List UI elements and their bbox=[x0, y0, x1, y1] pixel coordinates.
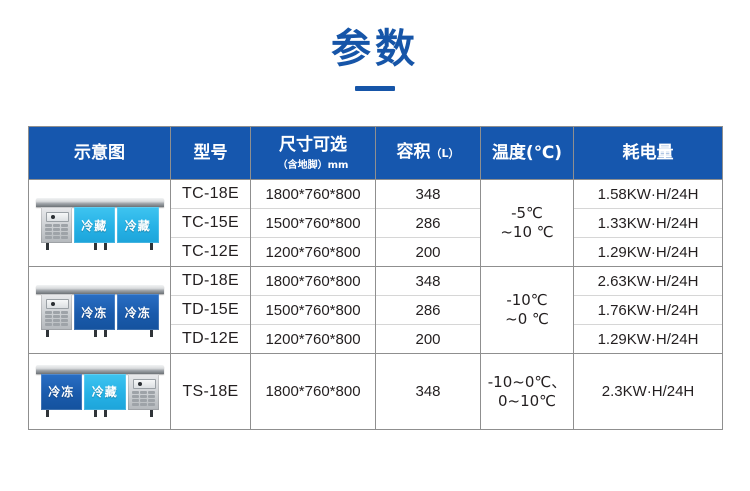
cell-power: 1.58KW·H/24H bbox=[574, 180, 723, 209]
cell-power: 1.76KW·H/24H bbox=[574, 296, 723, 325]
cell-model: TD-15E bbox=[171, 296, 251, 325]
leg bbox=[150, 330, 153, 337]
spec-table-wrapper: 示意图 型号 尺寸可选 （含地脚）mm 容积（L） 温度(℃) 耗电量 bbox=[28, 126, 722, 430]
leg bbox=[46, 243, 49, 250]
temperature-line-2: ~0 ℃ bbox=[481, 310, 573, 329]
cell-temperature: -10℃ ~0 ℃ bbox=[481, 267, 574, 354]
page-title-block: 参数 bbox=[0, 22, 750, 91]
header-temperature: 温度(℃) bbox=[481, 127, 574, 180]
header-size-label: 尺寸可选 bbox=[251, 136, 375, 155]
title-underline-rule bbox=[355, 86, 395, 91]
product-illustration-td: 冷冻 冷冻 bbox=[35, 281, 165, 339]
page-title: 参数 bbox=[0, 22, 750, 76]
header-diagram-label: 示意图 bbox=[29, 144, 170, 163]
cabinet-legs bbox=[40, 410, 160, 418]
leg bbox=[150, 410, 153, 417]
cabinet-body: 冷冻 冷冻 bbox=[40, 294, 160, 330]
cell-volume: 348 bbox=[376, 180, 481, 209]
door-left: 冷藏 bbox=[74, 207, 116, 243]
door-right: 冷藏 bbox=[117, 207, 159, 243]
cell-size: 1200*760*800 bbox=[251, 238, 376, 267]
leg bbox=[46, 410, 49, 417]
vent-grille-icon bbox=[132, 391, 155, 406]
header-volume: 容积（L） bbox=[376, 127, 481, 180]
table-row: 冷藏 冷藏 TC-18E 1800*760*800 348 -5℃ ~10 ℃ bbox=[29, 180, 723, 209]
cell-size: 1800*760*800 bbox=[251, 180, 376, 209]
cell-volume: 200 bbox=[376, 238, 481, 267]
header-size-sublabel: （含地脚）mm bbox=[251, 156, 375, 171]
cell-model: TD-18E bbox=[171, 267, 251, 296]
cabinet-legs bbox=[40, 243, 160, 251]
spec-table-body: 冷藏 冷藏 TC-18E 1800*760*800 348 -5℃ ~10 ℃ bbox=[29, 180, 723, 430]
temperature-line-2: ~10 ℃ bbox=[481, 223, 573, 242]
product-diagram-cell-td: 冷冻 冷冻 bbox=[29, 267, 171, 354]
cabinet-legs bbox=[40, 330, 160, 338]
cell-volume: 286 bbox=[376, 296, 481, 325]
door-left: 冷冻 bbox=[41, 374, 83, 410]
leg bbox=[150, 243, 153, 250]
cell-size: 1500*760*800 bbox=[251, 209, 376, 238]
header-temperature-label: 温度(℃) bbox=[481, 144, 573, 163]
cell-size: 1800*760*800 bbox=[251, 267, 376, 296]
cell-power: 1.33KW·H/24H bbox=[574, 209, 723, 238]
product-diagram-cell-tc: 冷藏 冷藏 bbox=[29, 180, 171, 267]
cell-size: 1500*760*800 bbox=[251, 296, 376, 325]
door-right: 冷藏 bbox=[84, 374, 126, 410]
header-volume-unit: （L） bbox=[430, 147, 459, 160]
cell-volume: 348 bbox=[376, 267, 481, 296]
leg bbox=[104, 243, 107, 250]
countertop bbox=[36, 285, 164, 294]
compressor-unit bbox=[128, 374, 159, 410]
cell-model: TC-15E bbox=[171, 209, 251, 238]
header-model: 型号 bbox=[171, 127, 251, 180]
spec-table-header: 示意图 型号 尺寸可选 （含地脚）mm 容积（L） 温度(℃) 耗电量 bbox=[29, 127, 723, 180]
door-left: 冷冻 bbox=[74, 294, 116, 330]
cell-model: TC-18E bbox=[171, 180, 251, 209]
table-row: 冷冻 冷藏 bbox=[29, 354, 723, 430]
header-power-label: 耗电量 bbox=[574, 144, 722, 163]
leg bbox=[94, 330, 97, 337]
header-model-label: 型号 bbox=[171, 144, 250, 163]
leg bbox=[94, 243, 97, 250]
cell-model: TS-18E bbox=[171, 354, 251, 430]
thermostat-display-icon bbox=[133, 379, 156, 389]
compressor-unit bbox=[41, 294, 72, 330]
thermostat-display-icon bbox=[46, 212, 69, 222]
header-row: 示意图 型号 尺寸可选 （含地脚）mm 容积（L） 温度(℃) 耗电量 bbox=[29, 127, 723, 180]
leg bbox=[104, 410, 107, 417]
temperature-line-1: -10~0℃、 bbox=[481, 373, 573, 392]
spec-table: 示意图 型号 尺寸可选 （含地脚）mm 容积（L） 温度(℃) 耗电量 bbox=[28, 126, 723, 430]
cell-volume: 348 bbox=[376, 354, 481, 430]
product-illustration-ts: 冷冻 冷藏 bbox=[35, 361, 165, 423]
cell-power: 2.3KW·H/24H bbox=[574, 354, 723, 430]
product-illustration-tc: 冷藏 冷藏 bbox=[35, 194, 165, 252]
temperature-line-1: -10℃ bbox=[481, 291, 573, 310]
leg bbox=[104, 330, 107, 337]
countertop bbox=[36, 365, 164, 374]
cell-power: 2.63KW·H/24H bbox=[574, 267, 723, 296]
cabinet-body: 冷藏 冷藏 bbox=[40, 207, 160, 243]
header-size: 尺寸可选 （含地脚）mm bbox=[251, 127, 376, 180]
vent-grille-icon bbox=[45, 224, 68, 239]
cell-size: 1800*760*800 bbox=[251, 354, 376, 430]
leg bbox=[46, 330, 49, 337]
product-diagram-cell-ts: 冷冻 冷藏 bbox=[29, 354, 171, 430]
cabinet-body: 冷冻 冷藏 bbox=[40, 374, 160, 410]
cell-power: 1.29KW·H/24H bbox=[574, 325, 723, 354]
cell-model: TD-12E bbox=[171, 325, 251, 354]
countertop bbox=[36, 198, 164, 207]
cell-temperature: -5℃ ~10 ℃ bbox=[481, 180, 574, 267]
cell-size: 1200*760*800 bbox=[251, 325, 376, 354]
header-power: 耗电量 bbox=[574, 127, 723, 180]
table-row: 冷冻 冷冻 TD-18E 1800*760*800 348 -10℃ ~0 ℃ bbox=[29, 267, 723, 296]
door-right: 冷冻 bbox=[117, 294, 159, 330]
cell-volume: 286 bbox=[376, 209, 481, 238]
header-diagram: 示意图 bbox=[29, 127, 171, 180]
temperature-line-2: 0~10℃ bbox=[481, 392, 573, 411]
header-volume-text: 容积 bbox=[396, 142, 430, 162]
cell-volume: 200 bbox=[376, 325, 481, 354]
cell-temperature: -10~0℃、 0~10℃ bbox=[481, 354, 574, 430]
cell-power: 1.29KW·H/24H bbox=[574, 238, 723, 267]
compressor-unit bbox=[41, 207, 72, 243]
leg bbox=[94, 410, 97, 417]
temperature-line-1: -5℃ bbox=[481, 204, 573, 223]
vent-grille-icon bbox=[45, 311, 68, 326]
header-volume-label: 容积（L） bbox=[376, 143, 480, 163]
thermostat-display-icon bbox=[46, 299, 69, 309]
cell-model: TC-12E bbox=[171, 238, 251, 267]
